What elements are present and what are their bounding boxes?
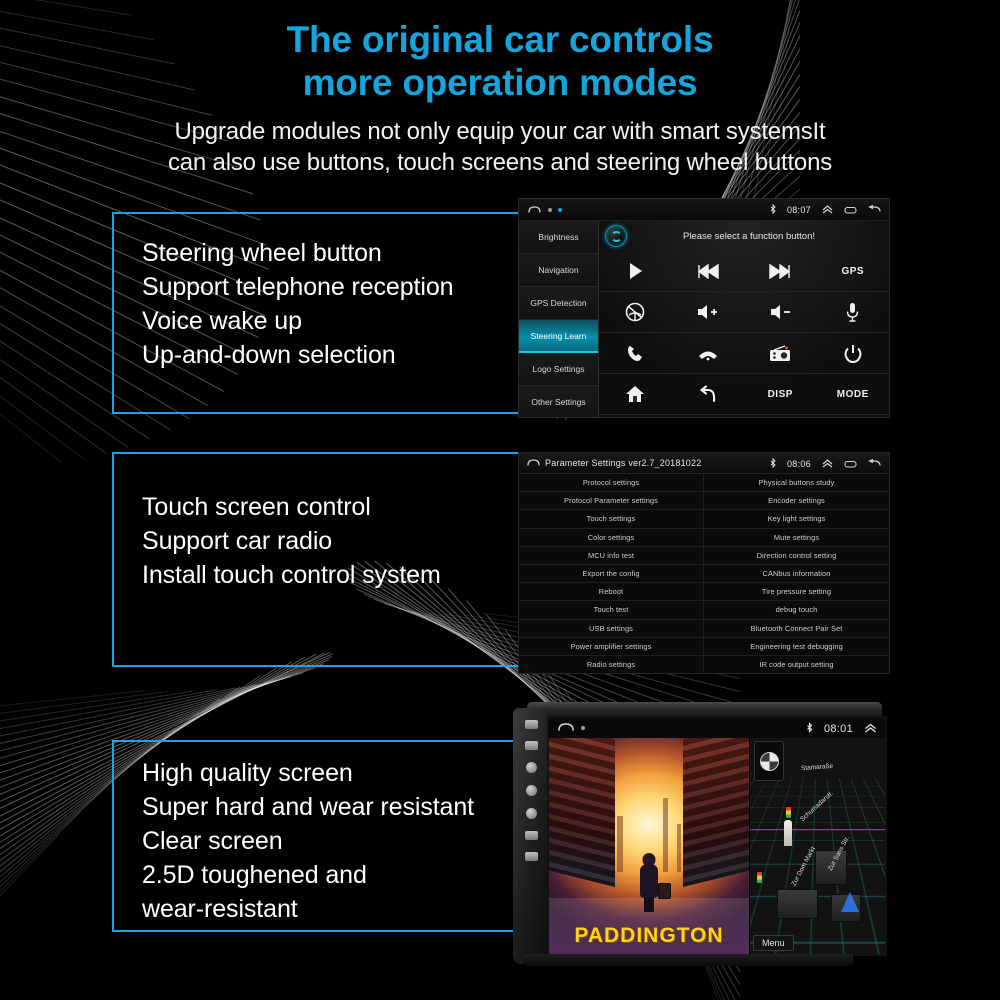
function-disp-button[interactable]: DISP xyxy=(744,374,817,415)
settings-table-cell[interactable]: debug touch xyxy=(704,601,889,619)
settings-table-cell[interactable]: Touch settings xyxy=(519,510,704,528)
settings-table-cell[interactable]: Radio settings xyxy=(519,656,704,674)
chevron-up-icon[interactable] xyxy=(822,455,833,473)
settings-title-bar: Parameter Settings ver2.7_20181022 08:06 xyxy=(519,453,889,474)
poster-spire xyxy=(617,816,623,872)
sd-card-icon[interactable] xyxy=(844,201,857,219)
status-bar: 08:01 xyxy=(549,718,885,738)
function-home-button[interactable] xyxy=(599,374,672,415)
function-volume-down-button[interactable] xyxy=(744,292,817,333)
map-road-label: Stamaraße xyxy=(801,763,834,772)
sidebar-item-navigation[interactable]: Navigation xyxy=(519,254,598,287)
feature-line: Support telephone reception xyxy=(142,270,520,304)
microphone-icon xyxy=(846,302,859,322)
feature-line: Install touch control system xyxy=(142,558,520,592)
settings-table-cell[interactable]: Touch test xyxy=(519,601,704,619)
bezel-button-nav[interactable] xyxy=(525,831,538,840)
poster-figure xyxy=(638,853,660,911)
settings-table-cell[interactable]: IR code output setting xyxy=(704,656,889,674)
page-subtitle: Upgrade modules not only equip your car … xyxy=(0,116,1000,178)
settings-table: Protocol settingsPhysical buttons studyP… xyxy=(519,474,889,674)
media-screen: 08:01 PADDINGTON xyxy=(547,716,887,956)
settings-table-cell[interactable]: USB settings xyxy=(519,620,704,638)
feature-panel-touch: Touch screen control Support car radio I… xyxy=(112,452,522,667)
page-title-line2: more operation modes xyxy=(0,61,1000,104)
function-previous-button[interactable] xyxy=(672,251,745,292)
function-volume-up-button[interactable] xyxy=(672,292,745,333)
status-time: 08:01 xyxy=(824,723,853,735)
play-icon xyxy=(627,262,644,280)
bluetooth-icon xyxy=(770,455,776,473)
map-menu-button[interactable]: Menu xyxy=(753,935,794,951)
sidebar-item-other-settings[interactable]: Other Settings xyxy=(519,386,598,418)
settings-table-cell[interactable]: Reboot xyxy=(519,583,704,601)
chevron-up-icon[interactable] xyxy=(864,720,877,738)
disp-label: DISP xyxy=(768,389,793,400)
cloud-home-icon[interactable] xyxy=(557,719,575,737)
cloud-home-icon[interactable] xyxy=(526,454,541,472)
compass-icon[interactable] xyxy=(754,741,784,781)
call-hangup-icon xyxy=(697,346,719,361)
bezel-button-mode[interactable] xyxy=(525,852,538,861)
bezel-button-back[interactable] xyxy=(526,808,537,819)
sidebar-item-logo-settings[interactable]: Logo Settings xyxy=(519,353,598,386)
device-bezel-bottom xyxy=(523,954,853,966)
back-arrow-icon[interactable] xyxy=(868,201,881,219)
settings-table-cell[interactable]: Physical buttons study xyxy=(704,474,889,492)
bezel-button-menu[interactable] xyxy=(525,741,538,750)
bezel-button-home[interactable] xyxy=(526,785,537,796)
call-answer-icon xyxy=(626,344,645,363)
cloud-home-icon[interactable] xyxy=(527,201,542,219)
settings-title: Parameter Settings ver2.7_20181022 xyxy=(545,458,701,468)
poster-spire xyxy=(677,824,681,872)
settings-sidebar: Brightness Navigation GPS Detection Stee… xyxy=(519,221,599,418)
function-mode-button[interactable]: MODE xyxy=(817,374,890,415)
page-title-line1: The original car controls xyxy=(0,18,1000,61)
poster-suitcase xyxy=(658,883,671,899)
bluetooth-icon xyxy=(770,201,776,219)
volume-down-icon xyxy=(769,304,792,320)
settings-table-cell[interactable]: Encoder settings xyxy=(704,492,889,510)
settings-table-cell[interactable]: Protocol settings xyxy=(519,474,704,492)
function-back-button[interactable] xyxy=(672,374,745,415)
subtitle-line2: can also use buttons, touch screens and … xyxy=(0,147,1000,178)
settings-table-cell[interactable]: Protocol Parameter settings xyxy=(519,492,704,510)
feature-line: wear-resistant xyxy=(142,892,520,926)
function-microphone-button[interactable] xyxy=(817,292,890,333)
function-power-button[interactable] xyxy=(817,333,890,374)
function-hangup-call-button[interactable] xyxy=(672,333,745,374)
function-next-button[interactable] xyxy=(744,251,817,292)
function-button-area: Please select a function button! xyxy=(599,221,889,418)
status-time: 08:06 xyxy=(787,459,811,469)
mode-label: MODE xyxy=(837,389,869,400)
map-building xyxy=(777,889,818,919)
bluetooth-icon xyxy=(806,720,813,738)
bezel-button-volume[interactable] xyxy=(526,762,537,773)
function-radio-button[interactable] xyxy=(744,333,817,374)
nav-dot xyxy=(548,208,552,212)
header: The original car controls more operation… xyxy=(0,18,1000,178)
settings-table-cell[interactable]: Color settings xyxy=(519,529,704,547)
sidebar-item-brightness[interactable]: Brightness xyxy=(519,221,598,254)
feature-line: Support car radio xyxy=(142,524,520,558)
subtitle-line1: Upgrade modules not only equip your car … xyxy=(0,116,1000,147)
poster-spire xyxy=(663,798,668,871)
map-landmark xyxy=(784,820,792,846)
power-icon xyxy=(844,344,862,363)
function-answer-call-button[interactable] xyxy=(599,333,672,374)
settings-table-cell[interactable]: CANbus information xyxy=(704,565,889,583)
parameter-settings-screen: Parameter Settings ver2.7_20181022 08:06… xyxy=(518,452,890,674)
navigation-position-arrow xyxy=(841,892,859,912)
back-arrow-icon[interactable] xyxy=(868,455,881,473)
status-bar: 08:07 xyxy=(519,199,889,221)
feature-line: Super hard and wear resistant xyxy=(142,790,520,824)
radio-icon xyxy=(769,345,791,362)
previous-track-icon xyxy=(697,264,719,279)
home-icon xyxy=(625,385,645,403)
poster-rail-left xyxy=(549,738,615,887)
back-icon xyxy=(699,385,717,403)
nav-dot xyxy=(581,726,585,730)
feature-line: 2.5D toughened and xyxy=(142,858,520,892)
settings-table-cell[interactable]: Engineering test debugging xyxy=(704,638,889,656)
function-mute-steering-button[interactable] xyxy=(599,292,672,333)
traffic-light-icon xyxy=(786,807,791,818)
mute-steering-icon xyxy=(625,302,645,322)
feature-line: Steering wheel button xyxy=(142,236,520,270)
settings-table-cell[interactable]: Mute settings xyxy=(704,529,889,547)
media-navigation-unit: 08:01 PADDINGTON xyxy=(505,702,900,964)
sidebar-item-steering-learn[interactable]: Steering Learn xyxy=(519,320,598,353)
settings-table-cell[interactable]: Tire pressure setting xyxy=(704,583,889,601)
navigation-map[interactable]: Stamaraße Schumadarstr. Zur Dom Markt Zu… xyxy=(749,738,885,954)
feature-line: Touch screen control xyxy=(142,490,520,524)
movie-title: PADDINGTON xyxy=(549,924,749,948)
poster-rail-right xyxy=(683,738,749,887)
sidebar-item-gps-detection[interactable]: GPS Detection xyxy=(519,287,598,320)
function-gps-button[interactable]: GPS xyxy=(817,251,890,292)
next-track-icon xyxy=(769,264,791,279)
sd-card-icon[interactable] xyxy=(844,455,857,473)
movie-poster[interactable]: PADDINGTON xyxy=(549,738,749,954)
function-grid: GPS xyxy=(599,251,889,415)
steering-learn-screen: 08:07 Brightness Navigation GPS Detectio… xyxy=(518,198,890,418)
traffic-light-icon xyxy=(757,872,762,883)
settings-table-cell[interactable]: Direction control setting xyxy=(704,547,889,565)
settings-table-cell[interactable]: Bluetooth Connect Pair Set xyxy=(704,620,889,638)
settings-table-cell[interactable]: Key light settings xyxy=(704,510,889,528)
gps-label: GPS xyxy=(841,266,864,277)
nav-dot-active xyxy=(558,208,562,212)
function-play-button[interactable] xyxy=(599,251,672,292)
bezel-button-power[interactable] xyxy=(525,720,538,729)
settings-table-cell[interactable]: Power amplifier settings xyxy=(519,638,704,656)
feature-line: Clear screen xyxy=(142,824,520,858)
feature-panel-screen: High quality screen Super hard and wear … xyxy=(112,740,522,932)
function-prompt: Please select a function button! xyxy=(627,231,889,242)
feature-line: Up-and-down selection xyxy=(142,338,520,372)
volume-up-icon xyxy=(696,304,719,320)
settings-table-cell[interactable]: Export the config xyxy=(519,565,704,583)
settings-table-cell[interactable]: MCU info test xyxy=(519,547,704,565)
chevron-up-icon[interactable] xyxy=(822,201,833,219)
steering-learn-logo-icon xyxy=(605,225,627,247)
feature-line: Voice wake up xyxy=(142,304,520,338)
device-bezel-left xyxy=(513,708,549,964)
status-time: 08:07 xyxy=(787,205,811,215)
feature-line: High quality screen xyxy=(142,756,520,790)
feature-panel-steering: Steering wheel button Support telephone … xyxy=(112,212,522,414)
